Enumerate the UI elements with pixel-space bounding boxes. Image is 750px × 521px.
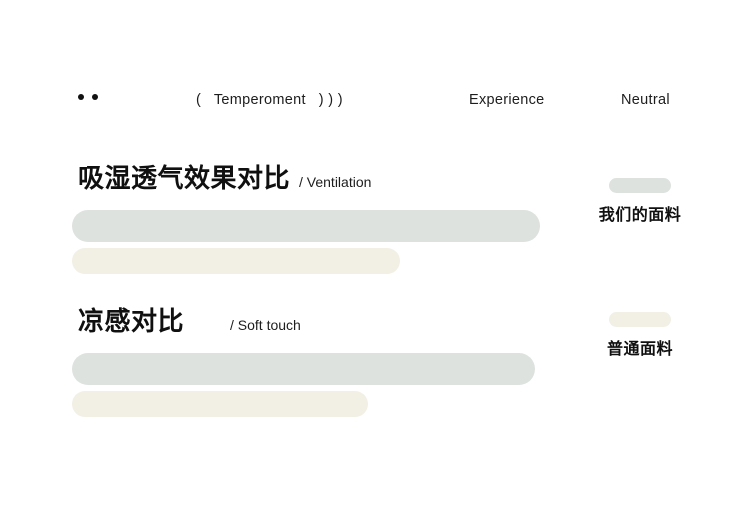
- bar-ventilation-normal: [72, 248, 400, 274]
- keyword-temperoment: ( Temperoment ) ) ): [196, 84, 343, 116]
- fabric-comparison-page: ( Temperoment ) ) ) Experience Neutral 吸…: [0, 0, 750, 521]
- keyword-experience: Experience: [469, 84, 545, 116]
- dot-icon: [92, 94, 98, 100]
- legend-our-fabric: 我们的面料: [560, 178, 720, 225]
- dot-icon: [78, 94, 84, 100]
- legend-normal-fabric: 普通面料: [560, 312, 720, 359]
- legend-label-our-fabric: 我们的面料: [560, 205, 720, 225]
- section-soft-touch-title-en: / Soft touch: [230, 306, 301, 344]
- section-ventilation-title-cn: 吸湿透气效果对比: [78, 160, 290, 198]
- section-soft-touch-title-cn: 凉感对比: [78, 303, 184, 341]
- section-ventilation-heading: 吸湿透气效果对比 / Ventilation: [78, 160, 371, 201]
- keyword-neutral: Neutral: [621, 84, 670, 116]
- bullet-dots: [78, 94, 98, 100]
- bar-ventilation-ours: [72, 210, 540, 242]
- keyword-bar: ( Temperoment ) ) ) Experience Neutral: [0, 84, 750, 116]
- legend-label-normal-fabric: 普通面料: [560, 339, 720, 359]
- bar-soft-touch-normal: [72, 391, 368, 417]
- legend-swatch-normal-fabric: [609, 312, 671, 327]
- section-soft-touch-heading: 凉感对比 / Soft touch: [78, 303, 301, 344]
- legend-swatch-our-fabric: [609, 178, 671, 193]
- section-ventilation-title-en: / Ventilation: [299, 163, 371, 201]
- bar-soft-touch-ours: [72, 353, 535, 385]
